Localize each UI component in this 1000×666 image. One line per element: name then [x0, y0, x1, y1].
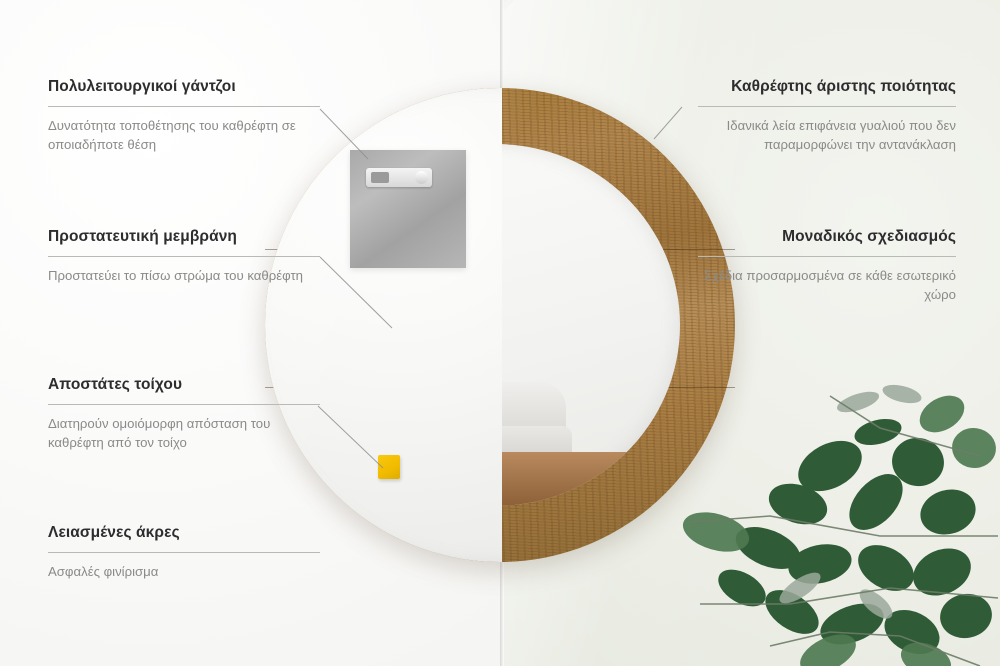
- multifunctional-hook-icon: [366, 168, 432, 187]
- callout-title: Μοναδικός σχεδιασμός: [698, 228, 956, 247]
- callout-rule: [48, 404, 320, 405]
- callout-hooks: Πολυλειτουργικοί γάντζοι Δυνατότητα τοπο…: [48, 78, 320, 154]
- callout-title: Πολυλειτουργικοί γάντζοι: [48, 78, 320, 97]
- callout-rule: [48, 256, 320, 257]
- mirror-reflection-area: [502, 88, 735, 562]
- callout-rule: [48, 552, 320, 553]
- callout-body: Ιδανικά λεία επιφάνεια γυαλιού που δεν π…: [698, 116, 956, 154]
- callout-rule: [698, 256, 956, 257]
- reflected-room-scene: [502, 144, 680, 506]
- callout-body: Ασφαλές φινίρισμα: [48, 562, 320, 581]
- hook-panel: [350, 150, 466, 268]
- callout-rule: [48, 106, 320, 107]
- callout-quality-glass: Καθρέφτης άριστης ποιότητας Ιδανικά λεία…: [698, 78, 956, 154]
- callout-wall-spacers: Αποστάτες τοίχου Διατηρούν ομοιόμορφη απ…: [48, 376, 320, 452]
- callout-body: Σχέδια προσαρμοσμένα σε κάθε εσωτερικό χ…: [698, 266, 956, 304]
- product-infographic: Πολυλειτουργικοί γάντζοι Δυνατότητα τοπο…: [0, 0, 1000, 666]
- callout-title: Αποστάτες τοίχου: [48, 376, 320, 395]
- callout-body: Διατηρούν ομοιόμορφη απόσταση του καθρέφ…: [48, 414, 320, 452]
- callout-title: Προστατευτική μεμβράνη: [48, 228, 320, 247]
- callout-smooth-edges: Λειασμένες άκρες Ασφαλές φινίρισμα: [48, 524, 320, 581]
- callout-membrane: Προστατευτική μεμβράνη Προστατεύει το πί…: [48, 228, 320, 285]
- callout-unique-design: Μοναδικός σχεδιασμός Σχέδια προσαρμοσμέν…: [698, 228, 956, 304]
- yellow-spacer: [378, 455, 400, 479]
- round-mirror: [265, 88, 735, 562]
- callout-title: Καθρέφτης άριστης ποιότητας: [698, 78, 956, 97]
- callout-body: Δυνατότητα τοποθέτησης του καθρέφτη σε ο…: [48, 116, 320, 154]
- callout-rule: [698, 106, 956, 107]
- callout-body: Προστατεύει το πίσω στρώμα του καθρέφτη: [48, 266, 320, 285]
- callout-title: Λειασμένες άκρες: [48, 524, 320, 543]
- wooden-floor: [502, 452, 680, 506]
